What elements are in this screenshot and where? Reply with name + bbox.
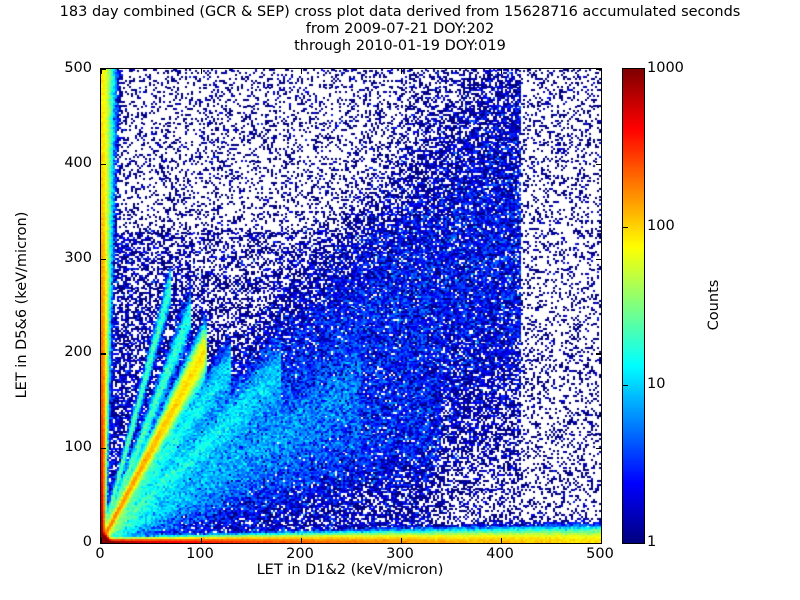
x-axis-tick xyxy=(501,538,502,543)
colorbar-tick-label: 1000 xyxy=(647,60,684,76)
x-axis-tick xyxy=(401,69,402,74)
x-axis-tick xyxy=(501,69,502,74)
colorbar-tick-label: 100 xyxy=(647,218,675,234)
colorbar-tick-label: 1 xyxy=(647,534,656,550)
y-axis-tick xyxy=(101,448,106,449)
density-scatter-plot xyxy=(101,69,601,543)
x-axis-tick-label: 100 xyxy=(186,546,214,562)
x-axis-tick xyxy=(601,538,602,543)
y-axis-tick-label: 0 xyxy=(40,534,92,550)
x-axis-tick xyxy=(401,538,402,543)
y-axis-tick xyxy=(101,543,106,544)
colorbar-gradient xyxy=(623,69,644,543)
y-axis-tick xyxy=(596,543,601,544)
y-axis-tick xyxy=(596,353,601,354)
x-axis-tick-label: 300 xyxy=(386,546,414,562)
y-axis-tick xyxy=(101,164,106,165)
y-axis-tick xyxy=(596,259,601,260)
y-axis-tick-label: 400 xyxy=(40,155,92,171)
y-axis-tick xyxy=(101,259,106,260)
y-axis-tick-label: 300 xyxy=(40,250,92,266)
colorbar xyxy=(622,68,645,544)
y-axis-tick xyxy=(101,353,106,354)
y-axis-label: LET in D5&6 (keV/micron) xyxy=(14,212,30,399)
title-line-2: from 2009-07-21 DOY:202 xyxy=(0,21,800,38)
x-axis-tick xyxy=(301,69,302,74)
x-axis-tick xyxy=(201,69,202,74)
y-axis-tick xyxy=(596,448,601,449)
x-axis-label: LET in D1&2 (keV/micron) xyxy=(100,562,600,578)
chart-title: 183 day combined (GCR & SEP) cross plot … xyxy=(0,4,800,55)
title-line-1: 183 day combined (GCR & SEP) cross plot … xyxy=(0,4,800,21)
x-axis-tick-label: 0 xyxy=(95,546,104,562)
y-axis-tick xyxy=(101,69,106,70)
colorbar-tick xyxy=(623,385,628,386)
y-axis-tick xyxy=(596,164,601,165)
x-axis-tick xyxy=(601,69,602,74)
x-axis-tick-label: 500 xyxy=(586,546,614,562)
title-line-3: through 2010-01-19 DOY:019 xyxy=(0,38,800,55)
x-axis-tick xyxy=(301,538,302,543)
y-axis-tick-label: 500 xyxy=(40,60,92,76)
x-axis-tick xyxy=(201,538,202,543)
x-axis-tick-label: 200 xyxy=(286,546,314,562)
x-axis-tick-label: 400 xyxy=(486,546,514,562)
colorbar-tick xyxy=(623,227,628,228)
colorbar-label: Counts xyxy=(706,280,722,331)
colorbar-tick-label: 10 xyxy=(647,376,665,392)
y-axis-tick-label: 200 xyxy=(40,344,92,360)
y-axis-tick xyxy=(596,69,601,70)
figure-canvas: 183 day combined (GCR & SEP) cross plot … xyxy=(0,0,800,600)
plot-area xyxy=(100,68,602,544)
y-axis-tick-label: 100 xyxy=(40,439,92,455)
